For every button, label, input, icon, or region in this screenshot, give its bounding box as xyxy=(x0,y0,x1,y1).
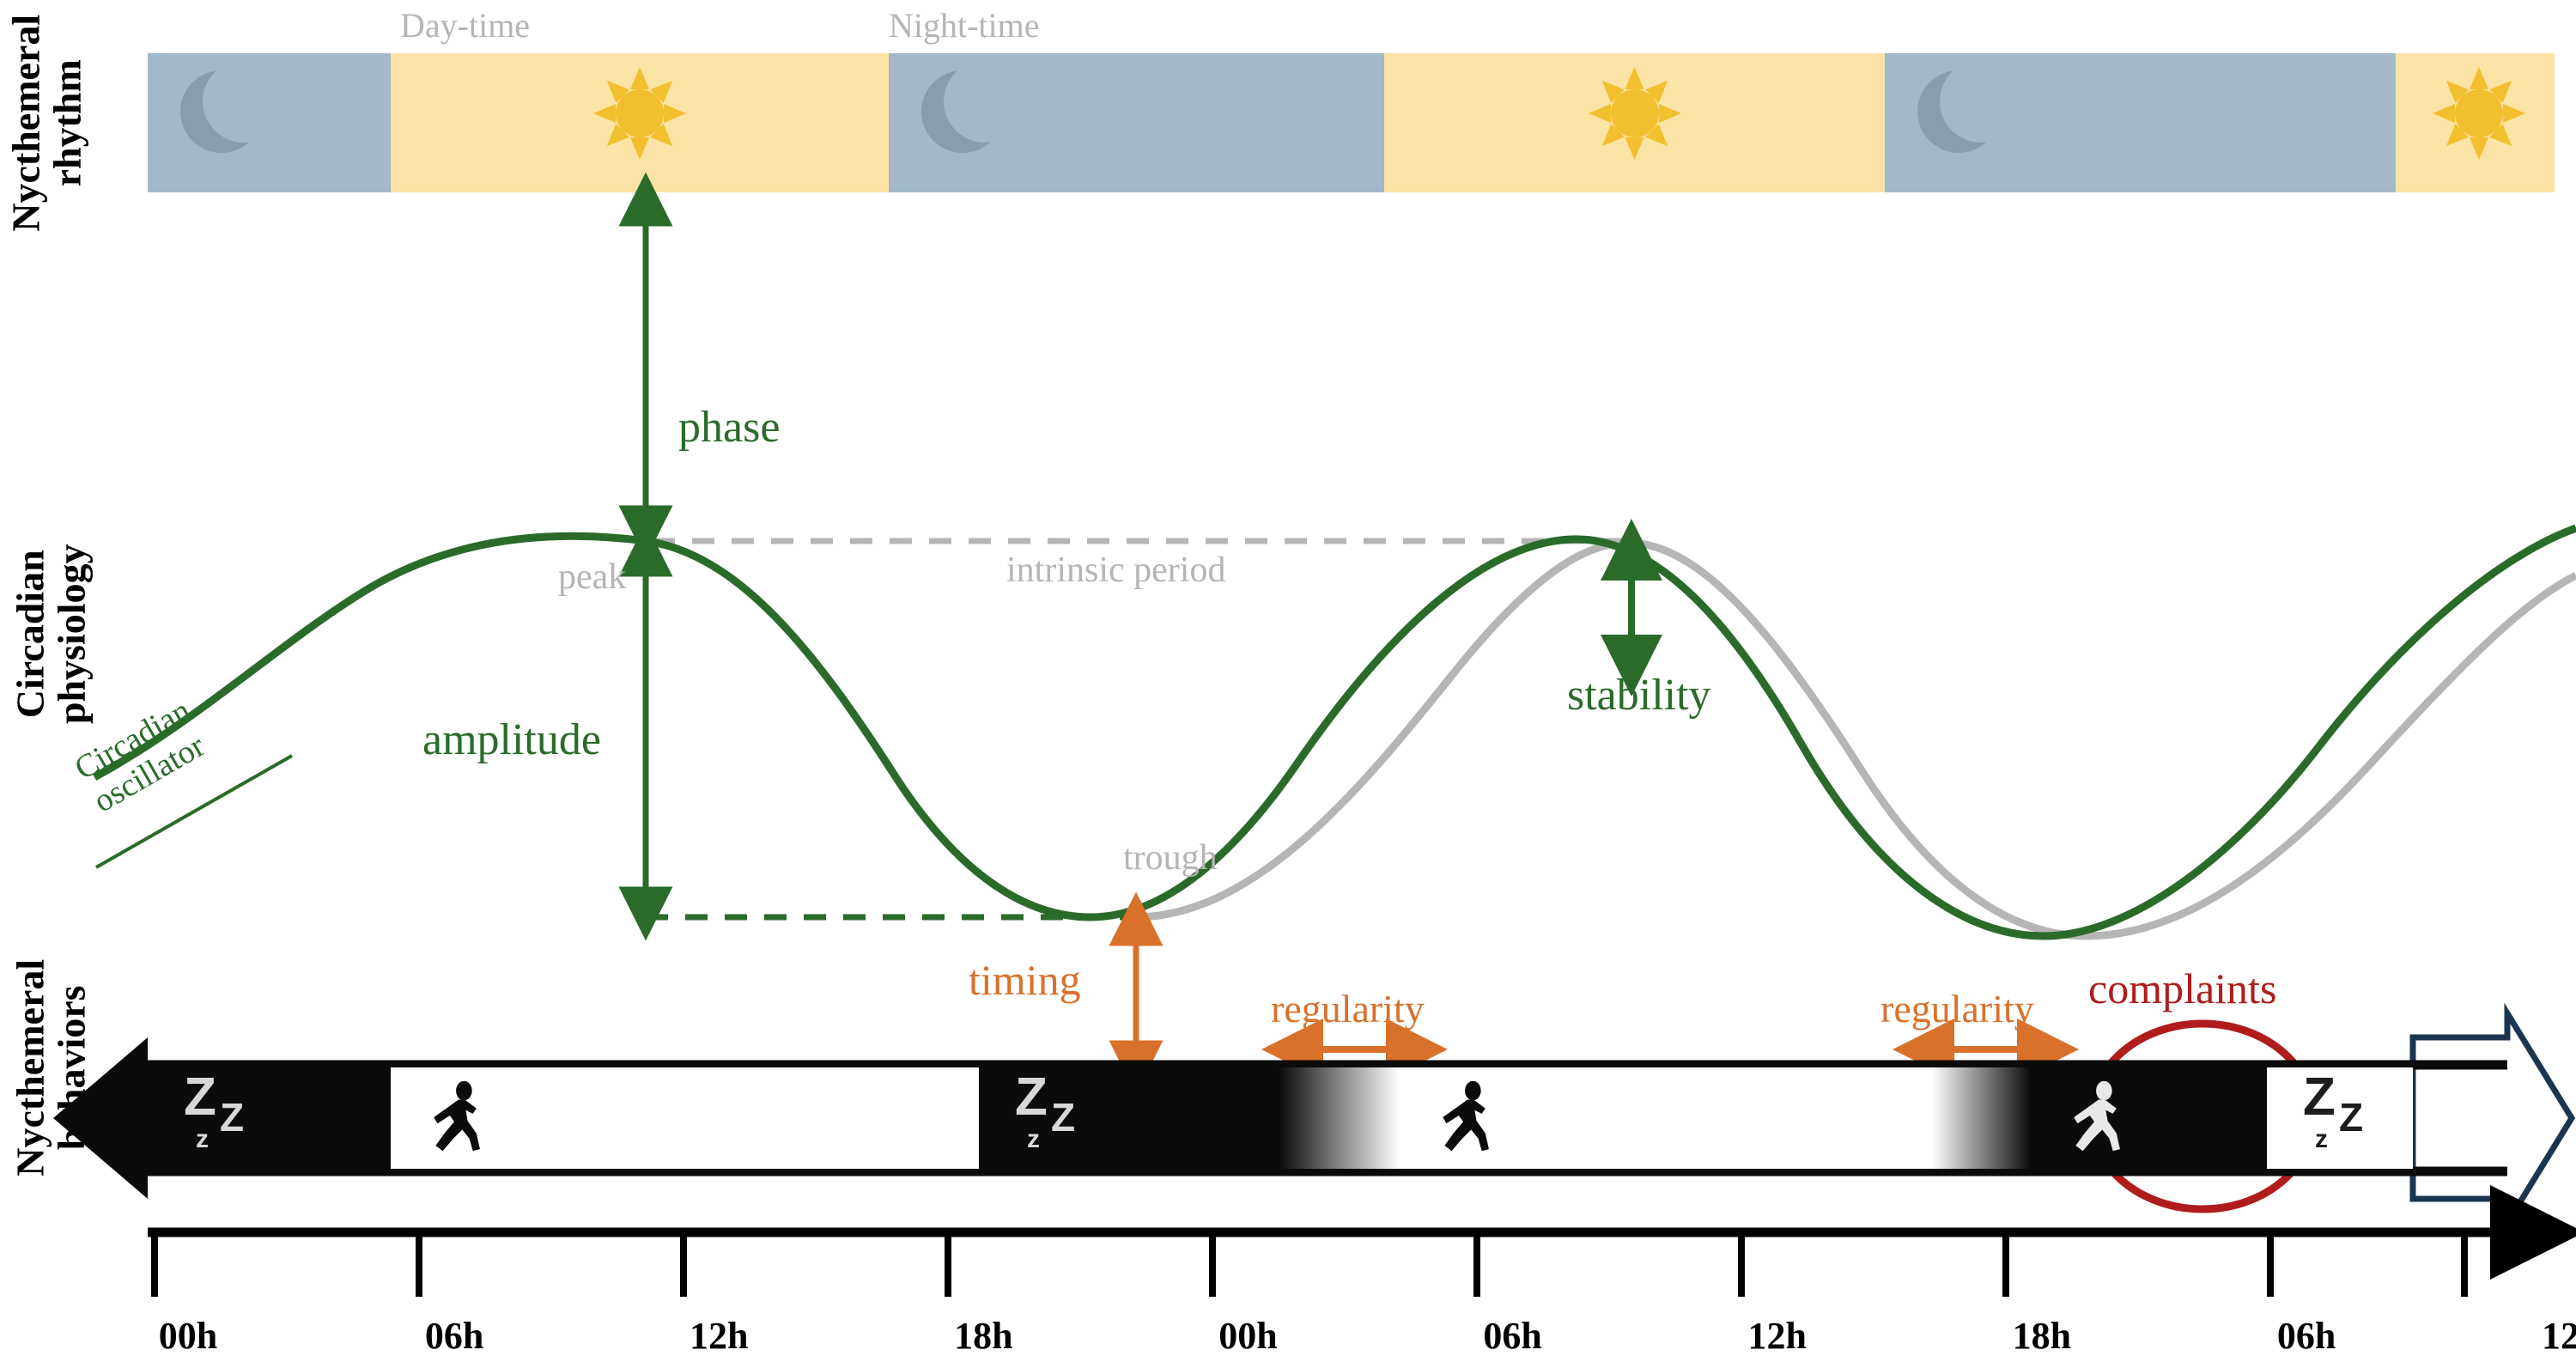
zzz-icon-dark: ZZz xyxy=(2303,1076,2389,1162)
behavior-bar: ZZzZZzZZz xyxy=(148,1067,2466,1169)
time-tick-label-0: 00h xyxy=(128,1314,248,1358)
annotation-regularity-2: regularity xyxy=(1880,986,2034,1031)
behavior-segment-sleep-0: ZZz xyxy=(148,1067,391,1169)
runner-icon-white xyxy=(2065,1081,2122,1153)
annotation-complaints: complaints xyxy=(2088,964,2276,1013)
zzz-icon: ZZz xyxy=(184,1076,270,1162)
behavior-segment-grad-wb-5 xyxy=(1932,1067,2031,1169)
time-tick-label-5: 06h xyxy=(1453,1314,1573,1358)
time-tick-label-8: 06h xyxy=(2246,1314,2366,1358)
annotation-intrinsic-period: intrinsic period xyxy=(1006,550,1225,591)
runner-icon xyxy=(425,1081,482,1153)
time-axis-ticks xyxy=(155,1232,2464,1297)
annotation-timing: timing xyxy=(969,955,1081,1005)
behavior-segment-sleep-6 xyxy=(2031,1067,2267,1169)
time-tick-label-3: 18h xyxy=(923,1314,1043,1358)
behavior-segment-wake-7: ZZz xyxy=(2267,1067,2413,1169)
time-tick-label-4: 00h xyxy=(1188,1314,1309,1358)
annotation-stability: stability xyxy=(1567,670,1711,721)
time-tick-label-6: 12h xyxy=(1717,1314,1838,1358)
runner-icon xyxy=(1434,1081,1491,1153)
time-tick-label-1: 06h xyxy=(394,1314,514,1358)
annotation-phase: phase xyxy=(678,402,780,453)
annotation-peak: peak xyxy=(558,556,626,598)
time-tick-label-7: 18h xyxy=(1982,1314,2102,1358)
annotation-regularity-1: regularity xyxy=(1271,986,1425,1031)
behavior-bar-left-arrowhead xyxy=(53,1037,148,1199)
annotation-amplitude: amplitude xyxy=(422,714,601,765)
time-tick-label-2: 12h xyxy=(659,1314,779,1358)
annotation-trough: trough xyxy=(1123,837,1218,879)
intrinsic-oscillator-curve xyxy=(1138,543,2576,936)
behavior-segment-wake-1 xyxy=(391,1067,979,1169)
behavior-segment-wake-4 xyxy=(1400,1067,1932,1169)
behavior-segment-grad-bw-3 xyxy=(1279,1067,1400,1169)
behavior-segment-sleep-2: ZZz xyxy=(979,1067,1279,1169)
time-tick-label-9: 12h xyxy=(2511,1314,2576,1358)
zzz-icon: ZZz xyxy=(1015,1076,1101,1162)
